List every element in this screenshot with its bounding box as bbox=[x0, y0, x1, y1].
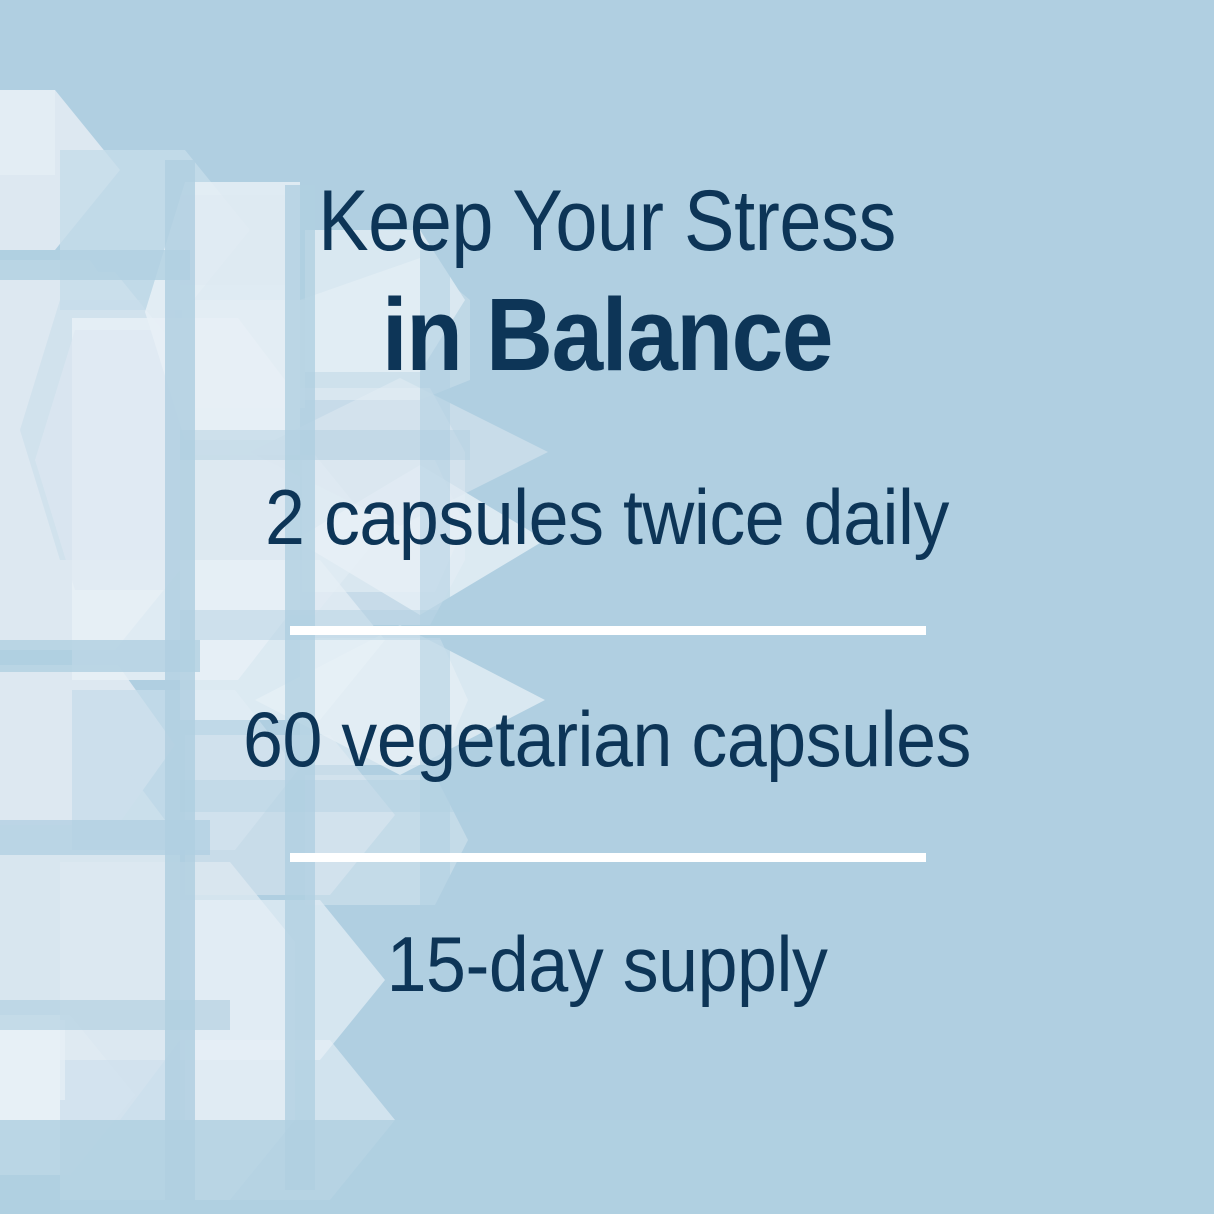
product-info-panel: Keep Your Stress in Balance 2 capsules t… bbox=[0, 0, 1214, 1214]
fact-capsule-count: 60 vegetarian capsules bbox=[49, 700, 1166, 778]
headline-line-2: in Balance bbox=[61, 283, 1154, 386]
fact-supply-duration: 15-day supply bbox=[49, 925, 1166, 1003]
fact-dosage: 2 capsules twice daily bbox=[49, 478, 1166, 556]
content-stack: Keep Your Stress in Balance 2 capsules t… bbox=[0, 0, 1214, 1214]
divider-rule-1 bbox=[290, 626, 926, 635]
headline-line-1: Keep Your Stress bbox=[73, 178, 1141, 264]
divider-rule-2 bbox=[290, 853, 926, 862]
